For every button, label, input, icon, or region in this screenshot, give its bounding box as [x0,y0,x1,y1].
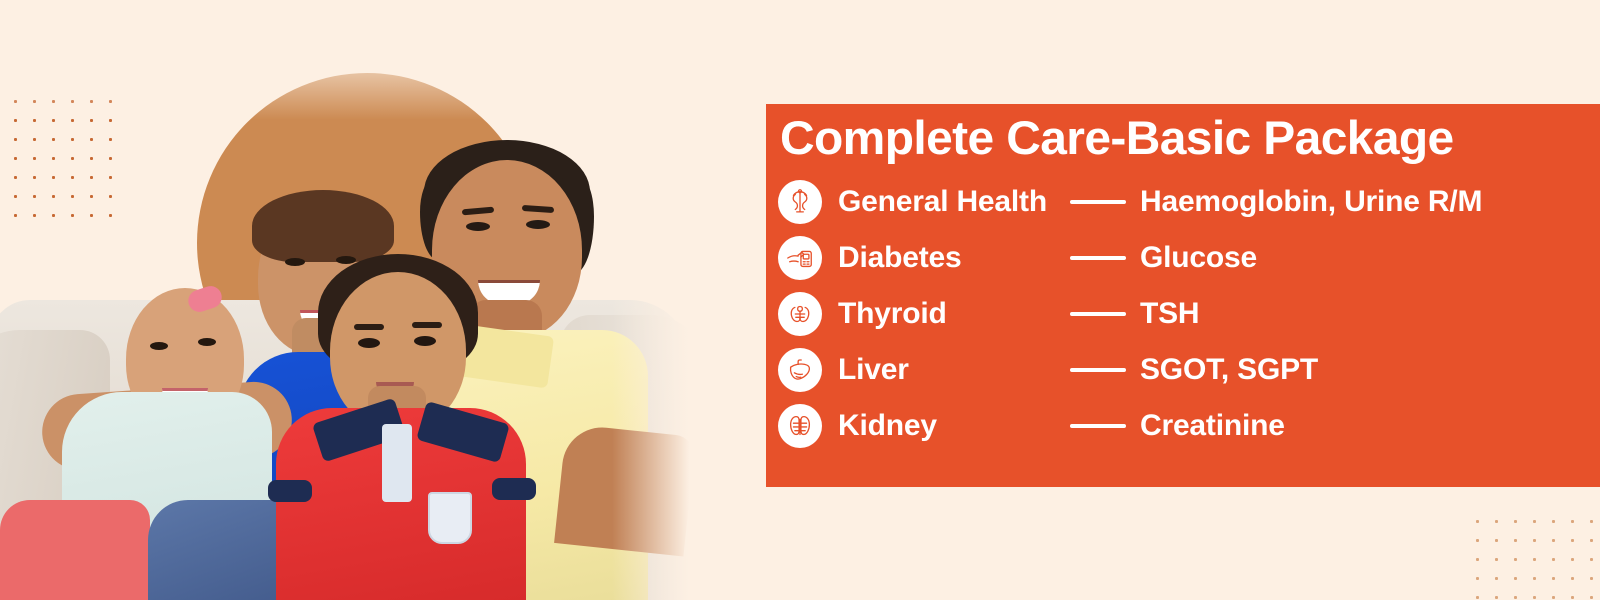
list-item-dash [1070,424,1126,428]
list-item-label: General Health [838,185,1070,219]
photo-fade-top [0,0,690,120]
list-item-value: TSH [1140,297,1199,331]
list-item[interactable]: General Health Haemoglobin, Urine R/M [766,174,1600,230]
list-item-label: Liver [838,353,1070,387]
family-photo [0,0,690,600]
boy-eyebrow-left [354,324,384,330]
liver-icon [778,348,822,392]
glucose-meter-icon [778,236,822,280]
list-item-value: Glucose [1140,241,1257,275]
package-title: Complete Care-Basic Package [780,110,1454,165]
list-item-label: Diabetes [838,241,1070,275]
boy-eye-right [414,336,436,346]
list-item-dash [1070,312,1126,316]
list-item-value: SGOT, SGPT [1140,353,1318,387]
boy-shirt-badge [428,492,472,544]
boy-shirt-placket [382,424,412,502]
list-item-value: Haemoglobin, Urine R/M [1140,185,1482,219]
boy-eyebrow-right [412,322,442,328]
banner-root: Complete Care-Basic Package General Heal… [0,0,1600,600]
test-list: General Health Haemoglobin, Urine R/M [766,174,1600,454]
boy-sleeve-right [492,478,536,500]
kidney-icon [778,404,822,448]
mother-eye-left [285,258,305,266]
list-item[interactable]: Kidney Creatinine [766,398,1600,454]
thyroid-icon [778,292,822,336]
list-item-label: Kidney [838,409,1070,443]
photo-fade-right [612,0,690,600]
boy-sleeve-left [268,480,312,502]
boy-eye-left [358,338,380,348]
girl-eye-right [198,338,216,346]
list-item-dash [1070,200,1126,204]
caduceus-icon [778,180,822,224]
girl-red-pants [0,500,150,600]
list-item-label: Thyroid [838,297,1070,331]
list-item-dash [1070,368,1126,372]
list-item[interactable]: Liver SGOT, SGPT [766,342,1600,398]
list-item-value: Creatinine [1140,409,1285,443]
father-eye-right [526,220,550,229]
girl-eye-left [150,342,168,350]
list-item[interactable]: Thyroid TSH [766,286,1600,342]
package-panel: Complete Care-Basic Package General Heal… [766,104,1600,487]
list-item-dash [1070,256,1126,260]
list-item[interactable]: Diabetes Glucose [766,230,1600,286]
mother-hair-front [252,190,394,262]
father-eye-left [466,222,490,231]
dot-pattern-bottom-right [1468,512,1600,600]
